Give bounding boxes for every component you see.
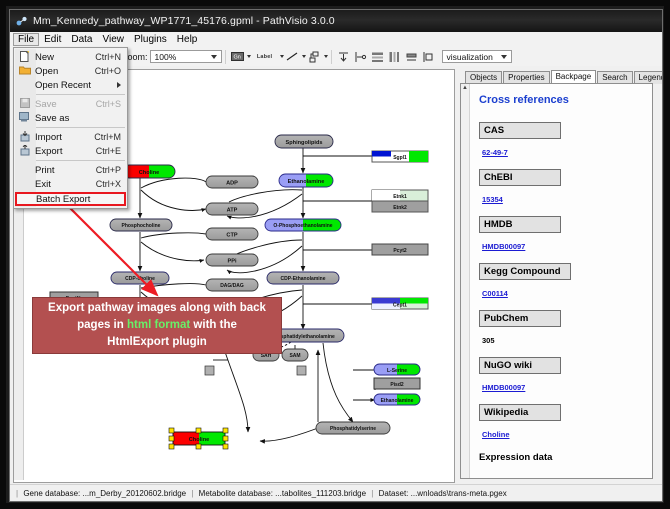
anchor-dropdown-caret-icon[interactable]	[324, 55, 328, 58]
svg-text:Gn: Gn	[233, 55, 240, 61]
svg-text:SAH: SAH	[261, 353, 272, 359]
status-dataset-label: Dataset:	[379, 489, 409, 498]
node-dag: DAG/DAG	[206, 279, 258, 291]
menu-item-save-label: Save	[35, 99, 96, 110]
annotation-callout: Export pathway images along with back pa…	[32, 297, 282, 354]
gene-cept1: Cept1	[372, 298, 428, 309]
xref-head-wikipedia: Wikipedia	[479, 404, 561, 421]
menu-item-open[interactable]: Open Ctrl+O	[14, 64, 127, 78]
node-choline-top: Choline	[123, 165, 175, 178]
menu-item-batch-export[interactable]: Batch Export	[15, 192, 126, 206]
callout-line-2-post: with the	[190, 319, 237, 331]
title-bar: Mm_Kennedy_pathway_WP1771_45176.gpml - P…	[10, 10, 662, 32]
menu-item-import-label: Import	[35, 132, 94, 143]
xref-head-cas: CAS	[479, 122, 561, 139]
save-as-icon	[14, 112, 35, 124]
xref-value-chebi[interactable]: 15354	[482, 195, 503, 204]
menu-help[interactable]: Help	[172, 33, 203, 46]
menu-item-print-label: Print	[35, 165, 96, 176]
menu-item-new-accel: Ctrl+N	[95, 52, 127, 62]
visualization-value: visualization	[447, 52, 493, 62]
visualization-select[interactable]: visualization	[442, 50, 512, 63]
tab-backpage[interactable]: Backpage	[551, 70, 597, 84]
svg-text:CDP-choline: CDP-choline	[125, 276, 155, 282]
label-dropdown-caret-icon[interactable]	[280, 55, 284, 58]
xref-value-pubchem: 305	[482, 336, 495, 345]
gene-pisd2: Pisd2	[374, 378, 420, 389]
xref-head-hmdb: HMDB	[479, 216, 561, 233]
application-window: Mm_Kennedy_pathway_WP1771_45176.gpml - P…	[9, 9, 663, 502]
menu-item-exit-label: Exit	[35, 179, 96, 190]
menu-item-import[interactable]: Import Ctrl+M	[14, 130, 127, 144]
xref-group-pubchem: PubChem 305	[479, 310, 646, 354]
svg-text:Phosphocholine: Phosphocholine	[122, 223, 161, 229]
toolbar-divider	[225, 50, 226, 64]
distribute-vertical-tool-icon[interactable]	[370, 49, 385, 64]
menu-item-import-accel: Ctrl+M	[94, 132, 127, 142]
menu-item-print-accel: Ctrl+P	[96, 165, 127, 175]
same-height-tool-icon[interactable]	[421, 49, 436, 64]
dropdown-divider-3	[36, 160, 125, 161]
xref-value-wikipedia[interactable]: Choline	[482, 430, 510, 439]
xref-head-chebi: ChEBI	[479, 169, 561, 186]
line-dropdown-caret-icon[interactable]	[302, 55, 306, 58]
xref-value-nugo[interactable]: HMDB00097	[482, 383, 525, 392]
node-ppi: PPi	[206, 254, 258, 266]
node-cdp-choline: CDP-choline	[111, 272, 169, 284]
svg-text:PPi: PPi	[227, 258, 236, 264]
zoom-value: 100%	[155, 52, 177, 62]
callout-line-3: HtmlExport plugin	[107, 334, 207, 351]
menu-file[interactable]: File	[13, 33, 39, 46]
status-metabolite-db-label: Metabolite database:	[199, 489, 273, 498]
xref-value-kegg[interactable]: C00114	[482, 289, 508, 298]
node-atp: ATP	[206, 203, 258, 215]
status-bar: | Gene database: ...m_Derby_20120602.bri…	[10, 484, 662, 501]
svg-text:Phosphatidylserine: Phosphatidylserine	[330, 426, 376, 432]
svg-text:SAM: SAM	[289, 353, 300, 359]
align-left-tool-icon[interactable]	[353, 49, 368, 64]
menu-item-export-accel: Ctrl+E	[96, 146, 127, 156]
svg-text:Choline: Choline	[189, 437, 210, 443]
menu-item-save-as-label: Save as	[35, 113, 121, 124]
xref-head-nugo: NuGO wiki	[479, 357, 561, 374]
menu-item-print[interactable]: Print Ctrl+P	[14, 163, 127, 177]
node-phosphocholine: Phosphocholine	[110, 219, 172, 231]
pathvisio-app-icon	[15, 15, 28, 28]
chevron-down-icon	[211, 55, 217, 59]
menu-item-open-recent[interactable]: Open Recent	[14, 78, 127, 92]
menu-item-export-label: Export	[35, 146, 96, 157]
status-gene-db-label: Gene database:	[23, 489, 80, 498]
svg-text:ATP: ATP	[227, 207, 238, 213]
svg-text:Etnk1: Etnk1	[393, 194, 407, 200]
cross-references-title: Cross references	[479, 94, 646, 106]
svg-text:Choline: Choline	[139, 170, 160, 176]
scroll-up-icon[interactable]: ▲	[462, 85, 468, 91]
node-ctp: CTP	[206, 228, 258, 240]
node-ethanolamine: Ethanolamine	[279, 174, 333, 187]
menu-bar[interactable]: File Edit Data View Plugins Help	[10, 32, 663, 48]
side-panel: Objects Properties Backpage Search Legen…	[457, 69, 657, 481]
node-phosphatidylserine: Phosphatidylserine	[316, 422, 390, 434]
callout-line-1: Export pathway images along with back	[48, 300, 266, 317]
gene-etnk2: Etnk2	[372, 201, 428, 212]
align-top-tool-icon[interactable]	[336, 49, 351, 64]
status-dataset-value: ...wnloads\trans-meta.pgex	[411, 489, 507, 498]
menu-item-open-accel: Ctrl+O	[95, 66, 127, 76]
svg-text:CDP-Ethanolamine: CDP-Ethanolamine	[280, 276, 325, 282]
distribute-horizontal-tool-icon[interactable]	[387, 49, 402, 64]
xref-group-chebi: ChEBI 15354	[479, 169, 646, 213]
gene-pcyt2: Pcyt2	[372, 244, 428, 255]
gene-product-tool-icon[interactable]: Gn	[230, 49, 245, 64]
window-title: Mm_Kennedy_pathway_WP1771_45176.gpml - P…	[33, 15, 335, 27]
submenu-arrow-icon	[117, 82, 121, 88]
file-menu-dropdown[interactable]: New Ctrl+N Open Ctrl+O Open Recent	[13, 47, 128, 209]
menu-data[interactable]: Data	[66, 33, 97, 46]
menu-item-export[interactable]: Export Ctrl+E	[14, 144, 127, 158]
node-o-phosphoethanolamine: O-Phosphoethanolamine	[265, 219, 341, 231]
xref-value-hmdb[interactable]: HMDB00097	[482, 242, 525, 251]
new-file-icon	[14, 51, 35, 64]
status-divider-2: |	[371, 489, 373, 498]
gene-sgpl1: Sgpl1	[372, 151, 428, 162]
gene-etnk1: Etnk1	[372, 190, 428, 201]
menu-item-open-label: Open	[35, 66, 95, 77]
menu-item-batch-export-label: Batch Export	[17, 194, 124, 205]
svg-text:DAG/DAG: DAG/DAG	[220, 283, 244, 289]
svg-text:Pisd2: Pisd2	[390, 382, 404, 388]
callout-line-2: pages in html format with the	[77, 317, 237, 334]
svg-text:Etnk2: Etnk2	[393, 205, 407, 211]
panel-left-scroll-gutter[interactable]: ▲	[461, 84, 470, 478]
xref-group-kegg: Kegg Compound C00114	[479, 263, 646, 307]
zoom-select[interactable]: 100%	[150, 50, 222, 63]
menu-item-save-accel: Ctrl+S	[96, 99, 127, 109]
svg-text:CTP: CTP	[226, 232, 237, 238]
menu-item-new-label: New	[35, 52, 95, 63]
xref-group-wikipedia: Wikipedia Choline	[479, 404, 646, 448]
menu-item-save-as[interactable]: Save as	[14, 111, 127, 125]
import-icon	[14, 131, 35, 144]
svg-text:Ethanolamine: Ethanolamine	[288, 179, 325, 185]
backpage-panel: ▲ Cross references CAS 62-49-7 ChEBI 153…	[460, 83, 653, 479]
dropdown-divider-2	[36, 127, 125, 128]
node-choline-selected: Choline	[169, 428, 228, 449]
node-adp: ADP	[206, 176, 258, 188]
svg-text:O-Phosphoethanolamine: O-Phosphoethanolamine	[273, 223, 332, 229]
svg-text:Sphingolipids: Sphingolipids	[286, 140, 323, 146]
svg-text:Ethanolamine: Ethanolamine	[381, 398, 414, 404]
svg-text:Cept1: Cept1	[393, 303, 407, 309]
svg-text:ADP: ADP	[226, 180, 238, 186]
node-l-serine: L-Serine	[374, 364, 420, 375]
line-tool-icon[interactable]	[285, 49, 300, 64]
anchor-tool-icon[interactable]	[307, 49, 322, 64]
xref-head-kegg: Kegg Compound	[479, 263, 571, 280]
label-tool-icon[interactable]: Label	[252, 49, 278, 64]
node-sam: SAM	[282, 349, 308, 361]
chevron-down-icon-2	[501, 55, 507, 59]
svg-text:Sgpl1: Sgpl1	[393, 155, 407, 161]
expression-data-title: Expression data	[479, 452, 646, 463]
callout-line-2-highlight: html format	[127, 319, 190, 331]
status-divider-1: |	[191, 489, 193, 498]
gene-product-dropdown-caret-icon[interactable]	[247, 55, 251, 58]
export-icon	[14, 145, 35, 158]
callout-line-2-pre: pages in	[77, 319, 127, 331]
node-cdp-ethanolamine: CDP-Ethanolamine	[267, 272, 339, 284]
backpage-content: Cross references CAS 62-49-7 ChEBI 15354…	[470, 84, 652, 478]
status-metabolite-db-value: ...tabolites_111203.bridge	[275, 489, 366, 498]
menu-item-open-recent-label: Open Recent	[35, 80, 117, 91]
xref-value-cas[interactable]: 62-49-7	[482, 148, 508, 157]
menu-edit[interactable]: Edit	[39, 33, 66, 46]
xref-group-nugo: NuGO wiki HMDB00097	[479, 357, 646, 401]
open-folder-icon	[14, 65, 35, 77]
menu-item-new[interactable]: New Ctrl+N	[14, 50, 127, 64]
save-disk-icon	[14, 98, 35, 110]
menu-item-exit-accel: Ctrl+X	[96, 179, 127, 189]
menu-item-exit[interactable]: Exit Ctrl+X	[14, 177, 127, 191]
same-width-tool-icon[interactable]	[404, 49, 419, 64]
svg-text:L-Serine: L-Serine	[387, 368, 407, 374]
xref-group-hmdb: HMDB HMDB00097	[479, 216, 646, 260]
svg-text:Pcyt2: Pcyt2	[393, 248, 407, 254]
status-gene-db-value: ...m_Derby_20120602.bridge	[82, 489, 186, 498]
xref-head-pubchem: PubChem	[479, 310, 561, 327]
toolbar-divider-2	[331, 50, 332, 64]
node-sphingolipids: Sphingolipids	[275, 135, 333, 148]
menu-view[interactable]: View	[97, 33, 129, 46]
xref-group-cas: CAS 62-49-7	[479, 122, 646, 166]
menu-plugins[interactable]: Plugins	[129, 33, 172, 46]
dropdown-divider-1	[36, 94, 125, 95]
menu-item-save: Save Ctrl+S	[14, 97, 127, 111]
node-ethanolamine-right: Ethanolamine	[374, 394, 420, 405]
status-divider-0: |	[16, 489, 18, 498]
